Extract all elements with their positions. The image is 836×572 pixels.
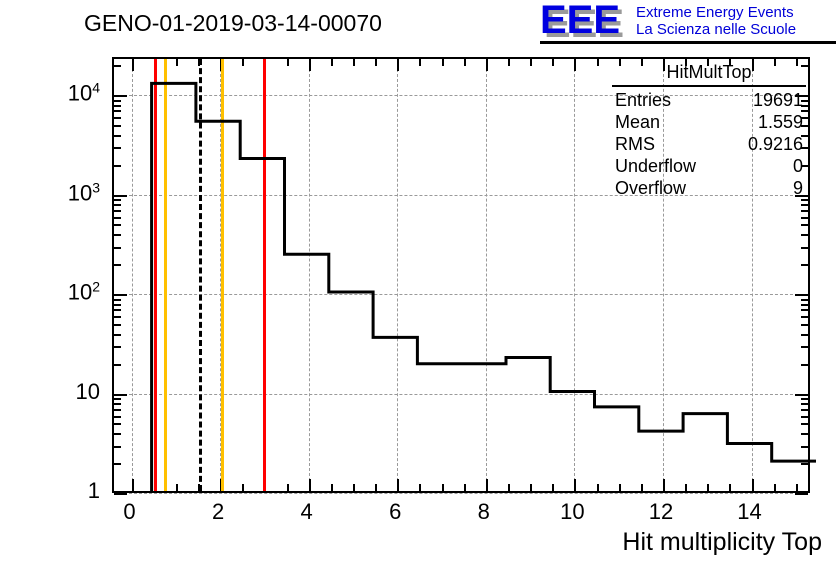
stats-row-value: 0.9216 bbox=[748, 133, 803, 155]
x-axis-tick bbox=[331, 59, 333, 66]
x-axis-tick bbox=[176, 59, 178, 66]
y-axis-tick bbox=[114, 204, 121, 206]
marker-line-orange-high bbox=[221, 59, 224, 491]
y-axis-tick bbox=[114, 446, 121, 448]
y-axis-tick bbox=[801, 304, 808, 306]
x-axis-title: Hit multiplicity Top bbox=[622, 528, 822, 557]
stats-row: RMS0.9216 bbox=[612, 133, 806, 155]
x-axis-tick bbox=[552, 59, 554, 66]
x-axis-tick bbox=[796, 484, 798, 491]
eee-logo: EEE EEE Extreme Energy Events La Scienza… bbox=[540, 3, 832, 39]
y-axis-tick bbox=[114, 364, 121, 366]
gridline-vertical bbox=[309, 59, 310, 491]
stats-row-label: Mean bbox=[615, 111, 660, 133]
y-axis-tick bbox=[114, 147, 121, 149]
y-axis-tick bbox=[801, 316, 808, 318]
x-axis-tick bbox=[574, 59, 576, 71]
y-axis-tick bbox=[801, 224, 808, 226]
y-axis-tick bbox=[801, 234, 808, 236]
stats-box[interactable]: HitMultTop Entries19691Mean1.559RMS0.921… bbox=[612, 62, 806, 199]
x-axis-tick bbox=[464, 484, 466, 491]
marker-line-red-low bbox=[154, 59, 157, 491]
y-axis-tick bbox=[801, 398, 808, 400]
x-axis-tick bbox=[353, 59, 355, 66]
x-axis-tick bbox=[309, 479, 311, 491]
x-axis-tick bbox=[287, 484, 289, 491]
x-axis-tick bbox=[729, 484, 731, 491]
y-axis-tick bbox=[801, 416, 808, 418]
header-divider bbox=[540, 41, 836, 44]
y-axis-tick bbox=[114, 247, 121, 249]
marker-line-orange-low bbox=[164, 59, 167, 491]
y-axis-tick bbox=[114, 309, 121, 311]
stats-row: Mean1.559 bbox=[612, 111, 806, 133]
y-axis-tick bbox=[114, 423, 121, 425]
y-axis-tick-label: 1 bbox=[0, 478, 100, 504]
x-axis-tick bbox=[597, 484, 599, 491]
x-axis-tick bbox=[242, 59, 244, 66]
y-axis-tick-label: 104 bbox=[0, 79, 100, 106]
x-axis-tick bbox=[707, 484, 709, 491]
y-axis-tick bbox=[114, 234, 121, 236]
y-axis-tick bbox=[114, 224, 121, 226]
y-axis-tick bbox=[114, 316, 121, 318]
x-axis-tick-label: 12 bbox=[649, 499, 673, 525]
y-axis-tick bbox=[801, 299, 808, 301]
y-axis-tick bbox=[114, 493, 127, 495]
y-axis-tick bbox=[795, 394, 808, 396]
x-axis-tick bbox=[375, 484, 377, 491]
stats-row-label: Underflow bbox=[615, 155, 696, 177]
x-axis-tick-label: 8 bbox=[478, 499, 490, 525]
x-axis-tick bbox=[309, 59, 311, 71]
x-axis-tick-label: 10 bbox=[560, 499, 584, 525]
x-axis-tick bbox=[464, 59, 466, 66]
y-axis-tick bbox=[114, 210, 121, 212]
gridline-horizontal bbox=[114, 493, 808, 494]
stats-row-label: Entries bbox=[615, 89, 671, 111]
stats-row-value: 0 bbox=[793, 155, 803, 177]
eee-logo-mark: EEE EEE bbox=[540, 3, 628, 37]
x-axis-tick bbox=[508, 59, 510, 66]
x-axis-tick bbox=[132, 479, 134, 491]
stats-row-label: Overflow bbox=[615, 177, 686, 199]
y-axis-tick bbox=[801, 210, 808, 212]
y-axis-tick bbox=[114, 135, 121, 137]
y-axis-tick bbox=[801, 403, 808, 405]
y-axis-tick bbox=[801, 364, 808, 366]
x-axis-tick bbox=[752, 479, 754, 491]
x-axis-tick bbox=[597, 59, 599, 66]
y-axis-tick bbox=[114, 117, 121, 119]
y-axis-tick bbox=[801, 204, 808, 206]
y-axis-tick bbox=[114, 294, 127, 296]
y-axis-tick bbox=[114, 398, 121, 400]
gridline-horizontal bbox=[114, 294, 808, 295]
y-axis-tick bbox=[114, 346, 121, 348]
x-axis-tick-label: 0 bbox=[123, 499, 135, 525]
x-axis-tick-label: 4 bbox=[301, 499, 313, 525]
y-axis-tick bbox=[795, 493, 808, 495]
y-axis-tick bbox=[114, 299, 121, 301]
x-axis-tick bbox=[552, 484, 554, 491]
y-axis-tick bbox=[114, 394, 127, 396]
y-axis-tick bbox=[114, 324, 121, 326]
y-axis-tick bbox=[114, 304, 121, 306]
root-canvas: GENO-01-2019-03-14-00070 EEE EEE Extreme… bbox=[0, 0, 836, 572]
x-axis-tick bbox=[486, 59, 488, 71]
x-axis-tick bbox=[486, 479, 488, 491]
x-axis-tick bbox=[287, 59, 289, 66]
x-axis-tick bbox=[176, 484, 178, 491]
y-axis-tick bbox=[801, 446, 808, 448]
eee-logo-mark-front: EEE bbox=[540, 3, 620, 37]
stats-row-value: 1.559 bbox=[758, 111, 803, 133]
y-axis-tick bbox=[795, 294, 808, 296]
stats-row: Underflow0 bbox=[612, 155, 806, 177]
stats-row: Overflow9 bbox=[612, 177, 806, 199]
y-axis-tick bbox=[114, 105, 121, 107]
x-axis-tick bbox=[419, 59, 421, 66]
gridline-horizontal bbox=[114, 394, 808, 395]
eee-logo-line2: La Scienza nelle Scuole bbox=[636, 21, 796, 38]
y-axis-tick bbox=[114, 264, 121, 266]
x-axis-tick bbox=[331, 484, 333, 491]
stats-box-divider bbox=[612, 85, 806, 87]
x-axis-tick bbox=[641, 484, 643, 491]
x-axis-tick bbox=[242, 484, 244, 491]
marker-line-black-dashed-mean bbox=[199, 59, 202, 491]
stats-box-rows: Entries19691Mean1.559RMS0.9216Underflow0… bbox=[612, 89, 806, 199]
stats-box-title: HitMultTop bbox=[612, 62, 806, 84]
y-axis-tick bbox=[801, 433, 808, 435]
x-axis-tick bbox=[397, 59, 399, 71]
y-axis-tick bbox=[801, 309, 808, 311]
x-axis-tick bbox=[442, 484, 444, 491]
gridline-vertical bbox=[574, 59, 575, 491]
y-axis-tick bbox=[114, 409, 121, 411]
y-axis-tick bbox=[114, 433, 121, 435]
y-axis-tick bbox=[114, 403, 121, 405]
x-axis-tick bbox=[397, 479, 399, 491]
y-axis-tick-label: 102 bbox=[0, 278, 100, 305]
eee-logo-text: Extreme Energy Events La Scienza nelle S… bbox=[636, 4, 796, 38]
y-axis-tick-label: 103 bbox=[0, 179, 100, 206]
x-axis-tick-label: 6 bbox=[389, 499, 401, 525]
y-axis-tick bbox=[801, 199, 808, 201]
y-axis-tick bbox=[114, 195, 127, 197]
y-axis-tick bbox=[114, 95, 127, 97]
gridline-vertical bbox=[397, 59, 398, 491]
y-axis-tick bbox=[114, 165, 121, 167]
y-axis-tick bbox=[801, 346, 808, 348]
y-axis-tick bbox=[801, 409, 808, 411]
x-axis-tick bbox=[619, 484, 621, 491]
stats-row-label: RMS bbox=[615, 133, 655, 155]
y-axis-tick bbox=[114, 416, 121, 418]
page-title: GENO-01-2019-03-14-00070 bbox=[84, 10, 382, 37]
y-axis-tick bbox=[801, 324, 808, 326]
y-axis-tick bbox=[114, 110, 121, 112]
stats-row-value: 9 bbox=[793, 177, 803, 199]
x-axis-tick bbox=[774, 484, 776, 491]
stats-row: Entries19691 bbox=[612, 89, 806, 111]
x-axis-tick bbox=[530, 484, 532, 491]
x-axis-tick bbox=[530, 59, 532, 66]
y-axis-tick bbox=[801, 423, 808, 425]
y-axis-tick bbox=[114, 199, 121, 201]
marker-line-red-high bbox=[263, 59, 266, 491]
y-axis-tick-label: 10 bbox=[0, 379, 100, 405]
y-axis-tick bbox=[114, 463, 121, 465]
gridline-vertical bbox=[132, 59, 133, 491]
x-axis-tick bbox=[574, 479, 576, 491]
x-axis-tick bbox=[132, 59, 134, 71]
y-axis-tick bbox=[801, 334, 808, 336]
x-axis-tick bbox=[508, 484, 510, 491]
y-axis-tick bbox=[114, 100, 121, 102]
stats-row-value: 19691 bbox=[753, 89, 803, 111]
x-axis-tick-label: 2 bbox=[212, 499, 224, 525]
y-axis-tick bbox=[114, 334, 121, 336]
x-axis-tick bbox=[685, 484, 687, 491]
x-axis-tick bbox=[442, 59, 444, 66]
y-axis-tick bbox=[114, 217, 121, 219]
eee-logo-line1: Extreme Energy Events bbox=[636, 4, 796, 21]
y-axis-tick bbox=[114, 65, 121, 67]
y-axis-tick bbox=[801, 264, 808, 266]
y-axis-tick bbox=[801, 247, 808, 249]
x-axis-tick-label: 14 bbox=[737, 499, 761, 525]
x-axis-tick bbox=[353, 484, 355, 491]
y-axis-tick bbox=[801, 217, 808, 219]
gridline-vertical bbox=[486, 59, 487, 491]
y-axis-tick bbox=[801, 463, 808, 465]
y-axis-tick bbox=[114, 125, 121, 127]
x-axis-tick bbox=[663, 479, 665, 491]
x-axis-tick bbox=[419, 484, 421, 491]
x-axis-tick bbox=[375, 59, 377, 66]
